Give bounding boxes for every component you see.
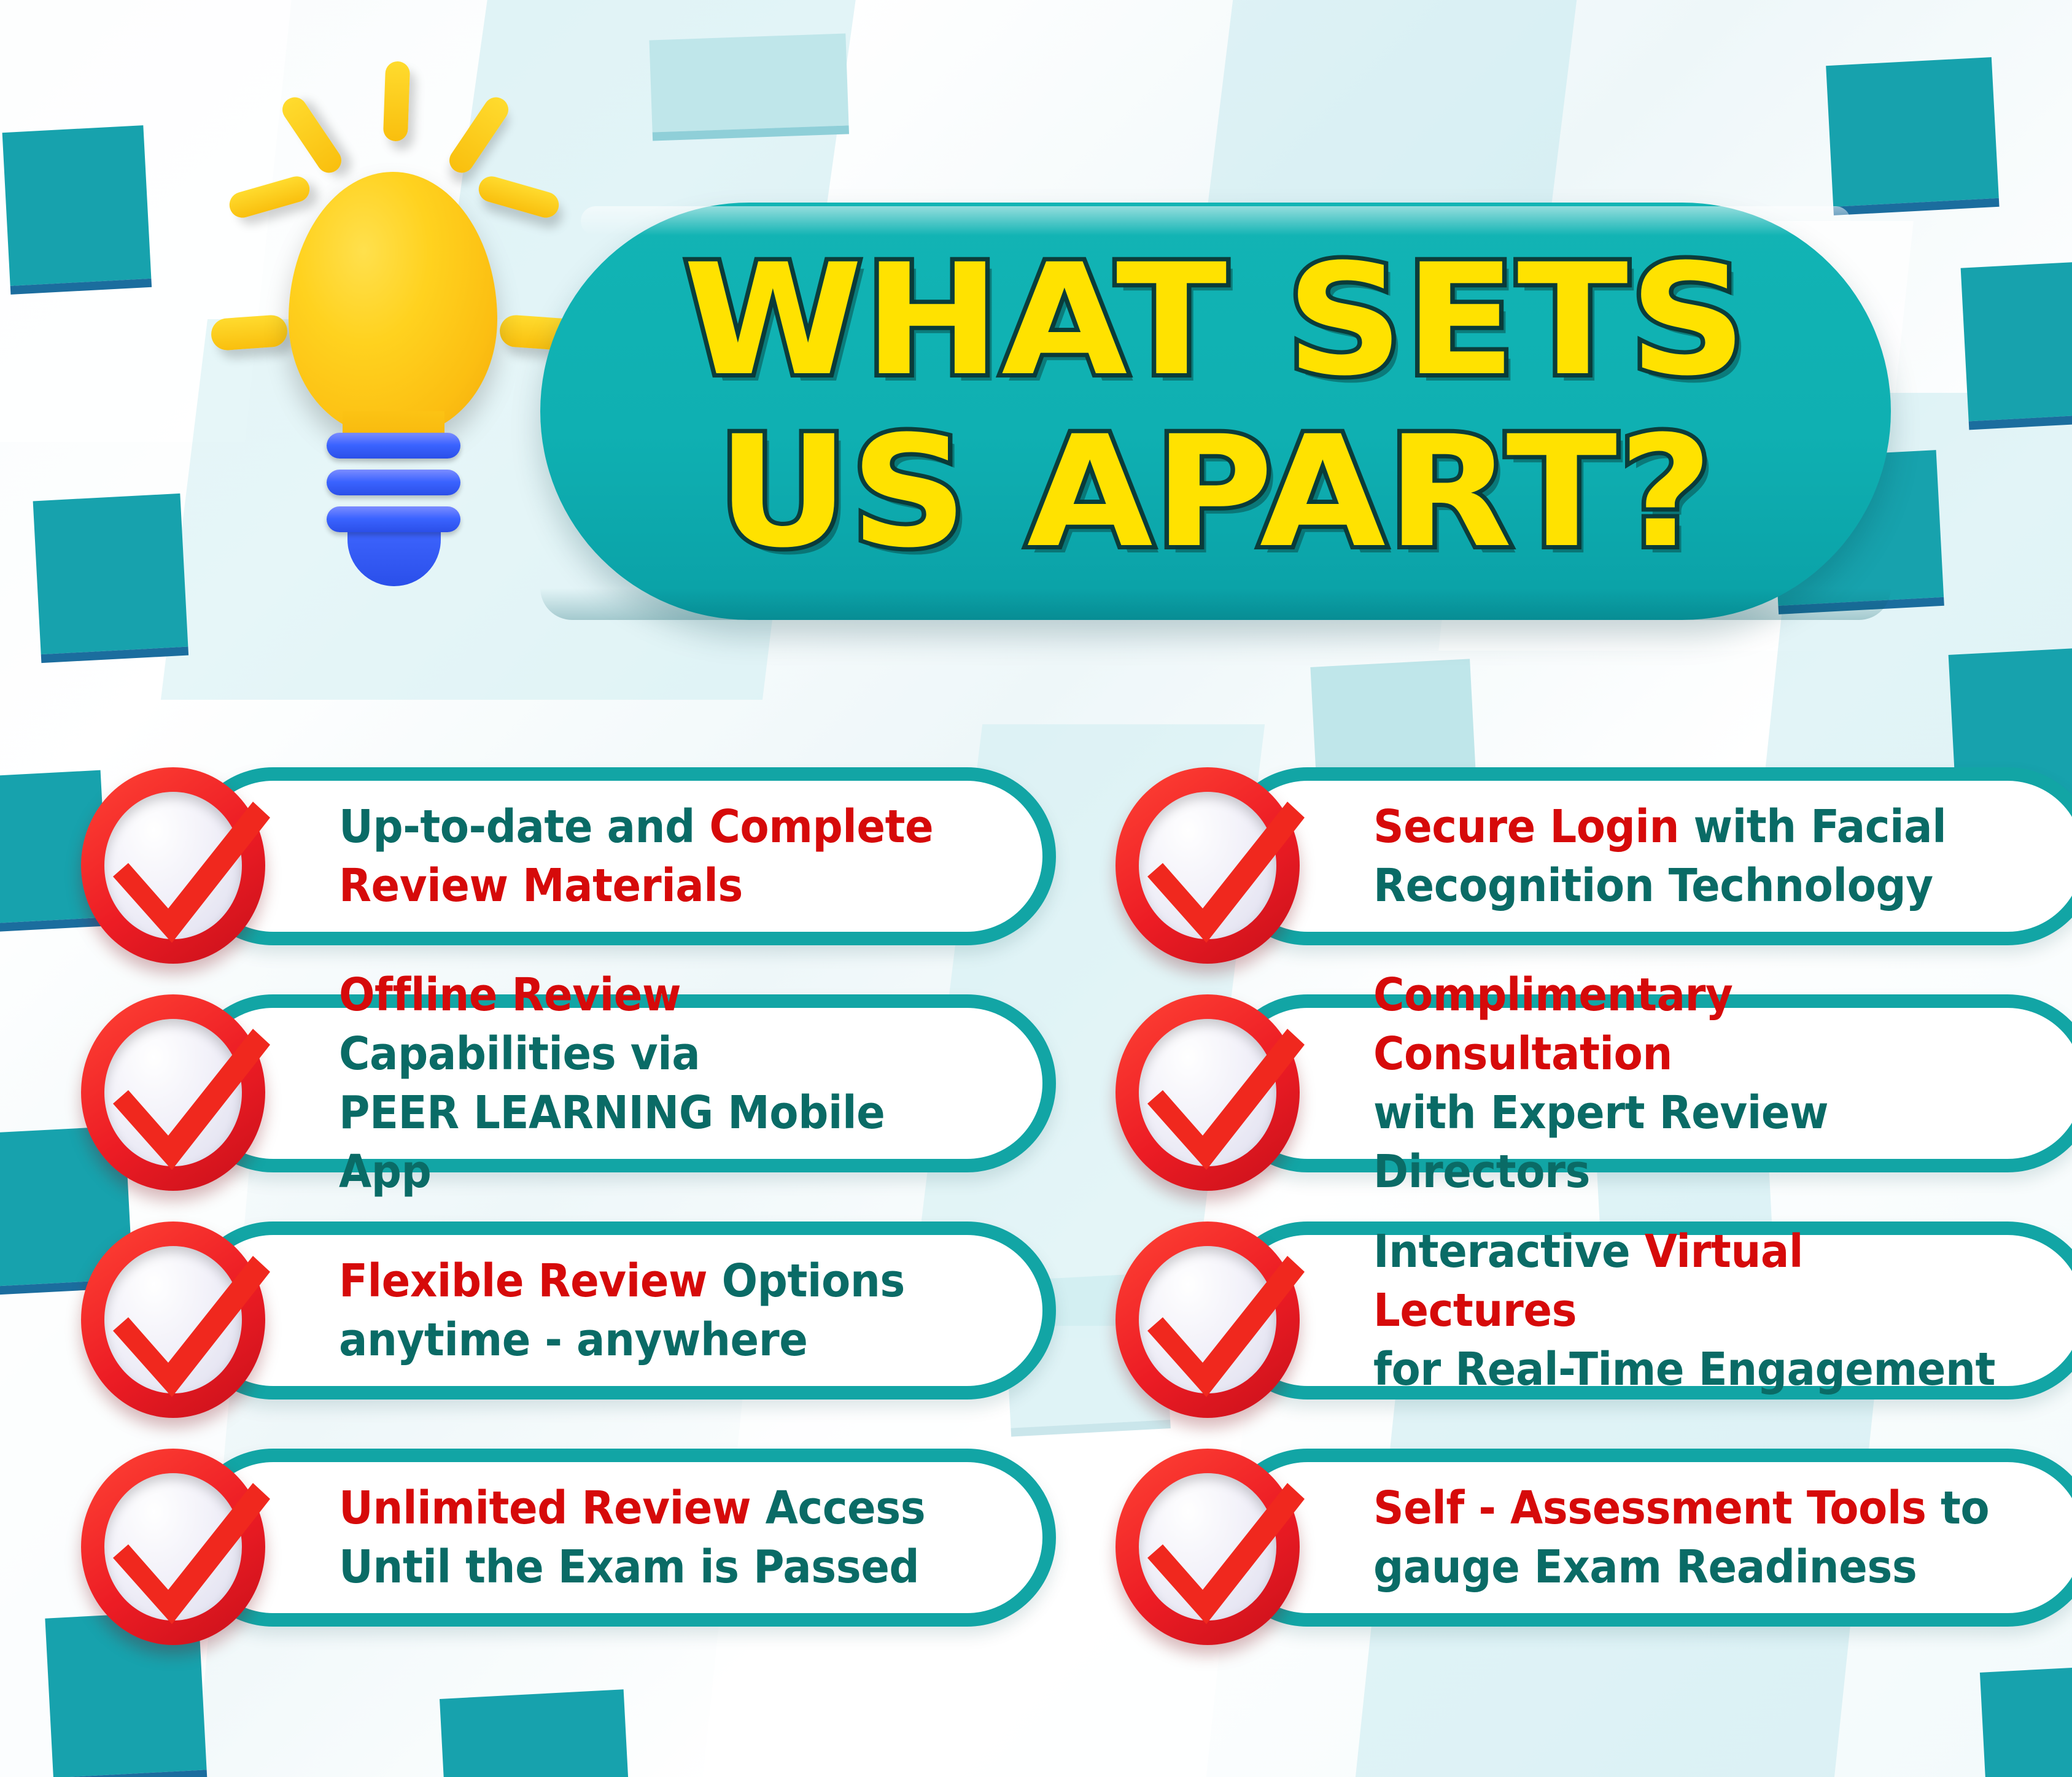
- feature-text-segment: Recognition Technology: [1373, 859, 1933, 912]
- feature-text-line: Offline Review Capabilities via: [339, 966, 971, 1083]
- bulb-ray: [476, 173, 562, 220]
- feature-card-unlimited-review-access[interactable]: Unlimited Review AccessUntil the Exam is…: [184, 1449, 1056, 1627]
- bulb-ray: [210, 314, 288, 352]
- checkmark-icon: [95, 1478, 279, 1632]
- checkmark-icon: [95, 797, 279, 950]
- bulb-screw-ring: [327, 433, 460, 459]
- check-badge-icon: [81, 1449, 271, 1651]
- feature-text: Secure Login with FacialRecognition Tech…: [1373, 797, 1946, 915]
- bulb-glass: [289, 172, 497, 436]
- feature-text-line: with Expert Review Directors: [1373, 1083, 2011, 1201]
- feature-card-secure-login-facial-recognition[interactable]: Secure Login with FacialRecognition Tech…: [1219, 767, 2072, 945]
- bulb-ray: [227, 173, 312, 220]
- feature-text-segment: with Facial: [1679, 800, 1946, 853]
- feature-text: Up-to-date and CompleteReview Materials: [339, 797, 933, 915]
- feature-text-segment: Complete: [709, 800, 933, 853]
- feature-text-line: for Real-Time Engagement: [1373, 1340, 2011, 1399]
- feature-text-line: Self - Assessment Tools to: [1373, 1479, 1989, 1538]
- bulb-ray: [383, 61, 411, 141]
- feature-text-line: anytime - anywhere: [339, 1310, 905, 1369]
- feature-text: Self - Assessment Tools togauge Exam Rea…: [1373, 1479, 1989, 1597]
- feature-text-line: Up-to-date and Complete: [339, 797, 933, 856]
- checkmark-icon: [1129, 1024, 1313, 1177]
- check-badge-icon: [1116, 994, 1306, 1197]
- checkmark-icon: [95, 1024, 279, 1177]
- feature-text-line: PEER LEARNING Mobile App: [339, 1083, 971, 1201]
- feature-text-segment: for Real-Time Engagement: [1373, 1343, 1995, 1396]
- feature-text-segment: Up-to-date and: [339, 800, 709, 853]
- feature-text: Offline Review Capabilities viaPEER LEAR…: [339, 966, 971, 1201]
- check-badge-icon: [1116, 1449, 1306, 1651]
- checkmark-icon: [1129, 1251, 1313, 1404]
- feature-text-segment: PEER LEARNING Mobile App: [339, 1086, 885, 1198]
- checkmark-icon: [1129, 797, 1313, 950]
- feature-text-segment: Interactive: [1373, 1225, 1645, 1278]
- feature-text-line: Review Materials: [339, 856, 933, 915]
- checkmark-icon: [1129, 1478, 1313, 1632]
- feature-text-segment: Offline Review: [339, 969, 681, 1021]
- bulb-ray: [277, 93, 346, 177]
- bulb-screw-ring: [327, 506, 460, 532]
- feature-text-segment: Until the Exam is Passed: [339, 1541, 919, 1593]
- feature-text-line: Interactive Virtual Lectures: [1373, 1222, 2011, 1340]
- feature-text-segment: with Expert Review Directors: [1373, 1086, 1828, 1198]
- feature-text-line: gauge Exam Readiness: [1373, 1538, 1989, 1597]
- feature-text-line: Secure Login with Facial: [1373, 797, 1946, 856]
- feature-card-self-assessment-tools[interactable]: Self - Assessment Tools togauge Exam Rea…: [1219, 1449, 2072, 1627]
- feature-text-segment: Review Materials: [339, 859, 743, 912]
- check-badge-icon: [81, 994, 271, 1197]
- bg-square: [440, 1689, 629, 1777]
- feature-text-segment: Capabilities via: [339, 1028, 700, 1080]
- feature-text-segment: Unlimited Review: [339, 1482, 751, 1535]
- feature-text-segment: Self - Assessment Tools: [1373, 1482, 1926, 1535]
- feature-text-line: Flexible Review Options: [339, 1252, 905, 1310]
- feature-text-segment: Secure Login: [1373, 800, 1679, 853]
- feature-text-line: Until the Exam is Passed: [339, 1538, 925, 1597]
- bulb-ray: [444, 93, 513, 177]
- feature-card-offline-review-peer-learning-app[interactable]: Offline Review Capabilities viaPEER LEAR…: [184, 994, 1056, 1172]
- feature-card-flexible-review-options[interactable]: Flexible Review Optionsanytime - anywher…: [184, 1221, 1056, 1400]
- feature-text-segment: to: [1926, 1482, 1990, 1535]
- page-title: WHAT SETS US APART?: [500, 234, 1931, 578]
- feature-text-segment: Options: [707, 1255, 905, 1307]
- check-badge-icon: [1116, 767, 1306, 970]
- lightbulb-icon: [264, 153, 522, 534]
- feature-text-line: Recognition Technology: [1373, 856, 1946, 915]
- feature-text-line: Unlimited Review Access: [339, 1479, 925, 1538]
- feature-text: Complimentary Consultationwith Expert Re…: [1373, 966, 2011, 1201]
- feature-text-line: Complimentary Consultation: [1373, 966, 2011, 1083]
- check-badge-icon: [81, 1221, 271, 1424]
- feature-card-complimentary-consultation-review-directors[interactable]: Complimentary Consultationwith Expert Re…: [1219, 994, 2072, 1172]
- check-badge-icon: [1116, 1221, 1306, 1424]
- check-badge-icon: [81, 767, 271, 970]
- feature-text-segment: Complimentary Consultation: [1373, 969, 1732, 1080]
- feature-card-up-to-date-complete-review-materials[interactable]: Up-to-date and CompleteReview Materials: [184, 767, 1056, 945]
- feature-text-segment: Access: [751, 1482, 925, 1535]
- bulb-tip: [347, 525, 441, 586]
- features-grid: Up-to-date and CompleteReview MaterialsS…: [0, 724, 2072, 1670]
- checkmark-icon: [95, 1251, 279, 1404]
- header-section: WHAT SETS US APART?: [0, 0, 2072, 724]
- title-banner: WHAT SETS US APART?: [540, 203, 1891, 620]
- feature-text-segment: gauge Exam Readiness: [1373, 1541, 1917, 1593]
- feature-text-segment: Flexible Review: [339, 1255, 707, 1307]
- bg-square: [1980, 1667, 2072, 1777]
- bulb-screw-ring: [327, 470, 460, 495]
- feature-text-segment: anytime - anywhere: [339, 1314, 807, 1366]
- feature-text: Flexible Review Optionsanytime - anywher…: [339, 1252, 905, 1369]
- feature-text: Unlimited Review AccessUntil the Exam is…: [339, 1479, 925, 1597]
- feature-text: Interactive Virtual Lecturesfor Real-Tim…: [1373, 1222, 2011, 1399]
- feature-card-interactive-virtual-lectures[interactable]: Interactive Virtual Lecturesfor Real-Tim…: [1219, 1221, 2072, 1400]
- bulb-base: [336, 433, 451, 556]
